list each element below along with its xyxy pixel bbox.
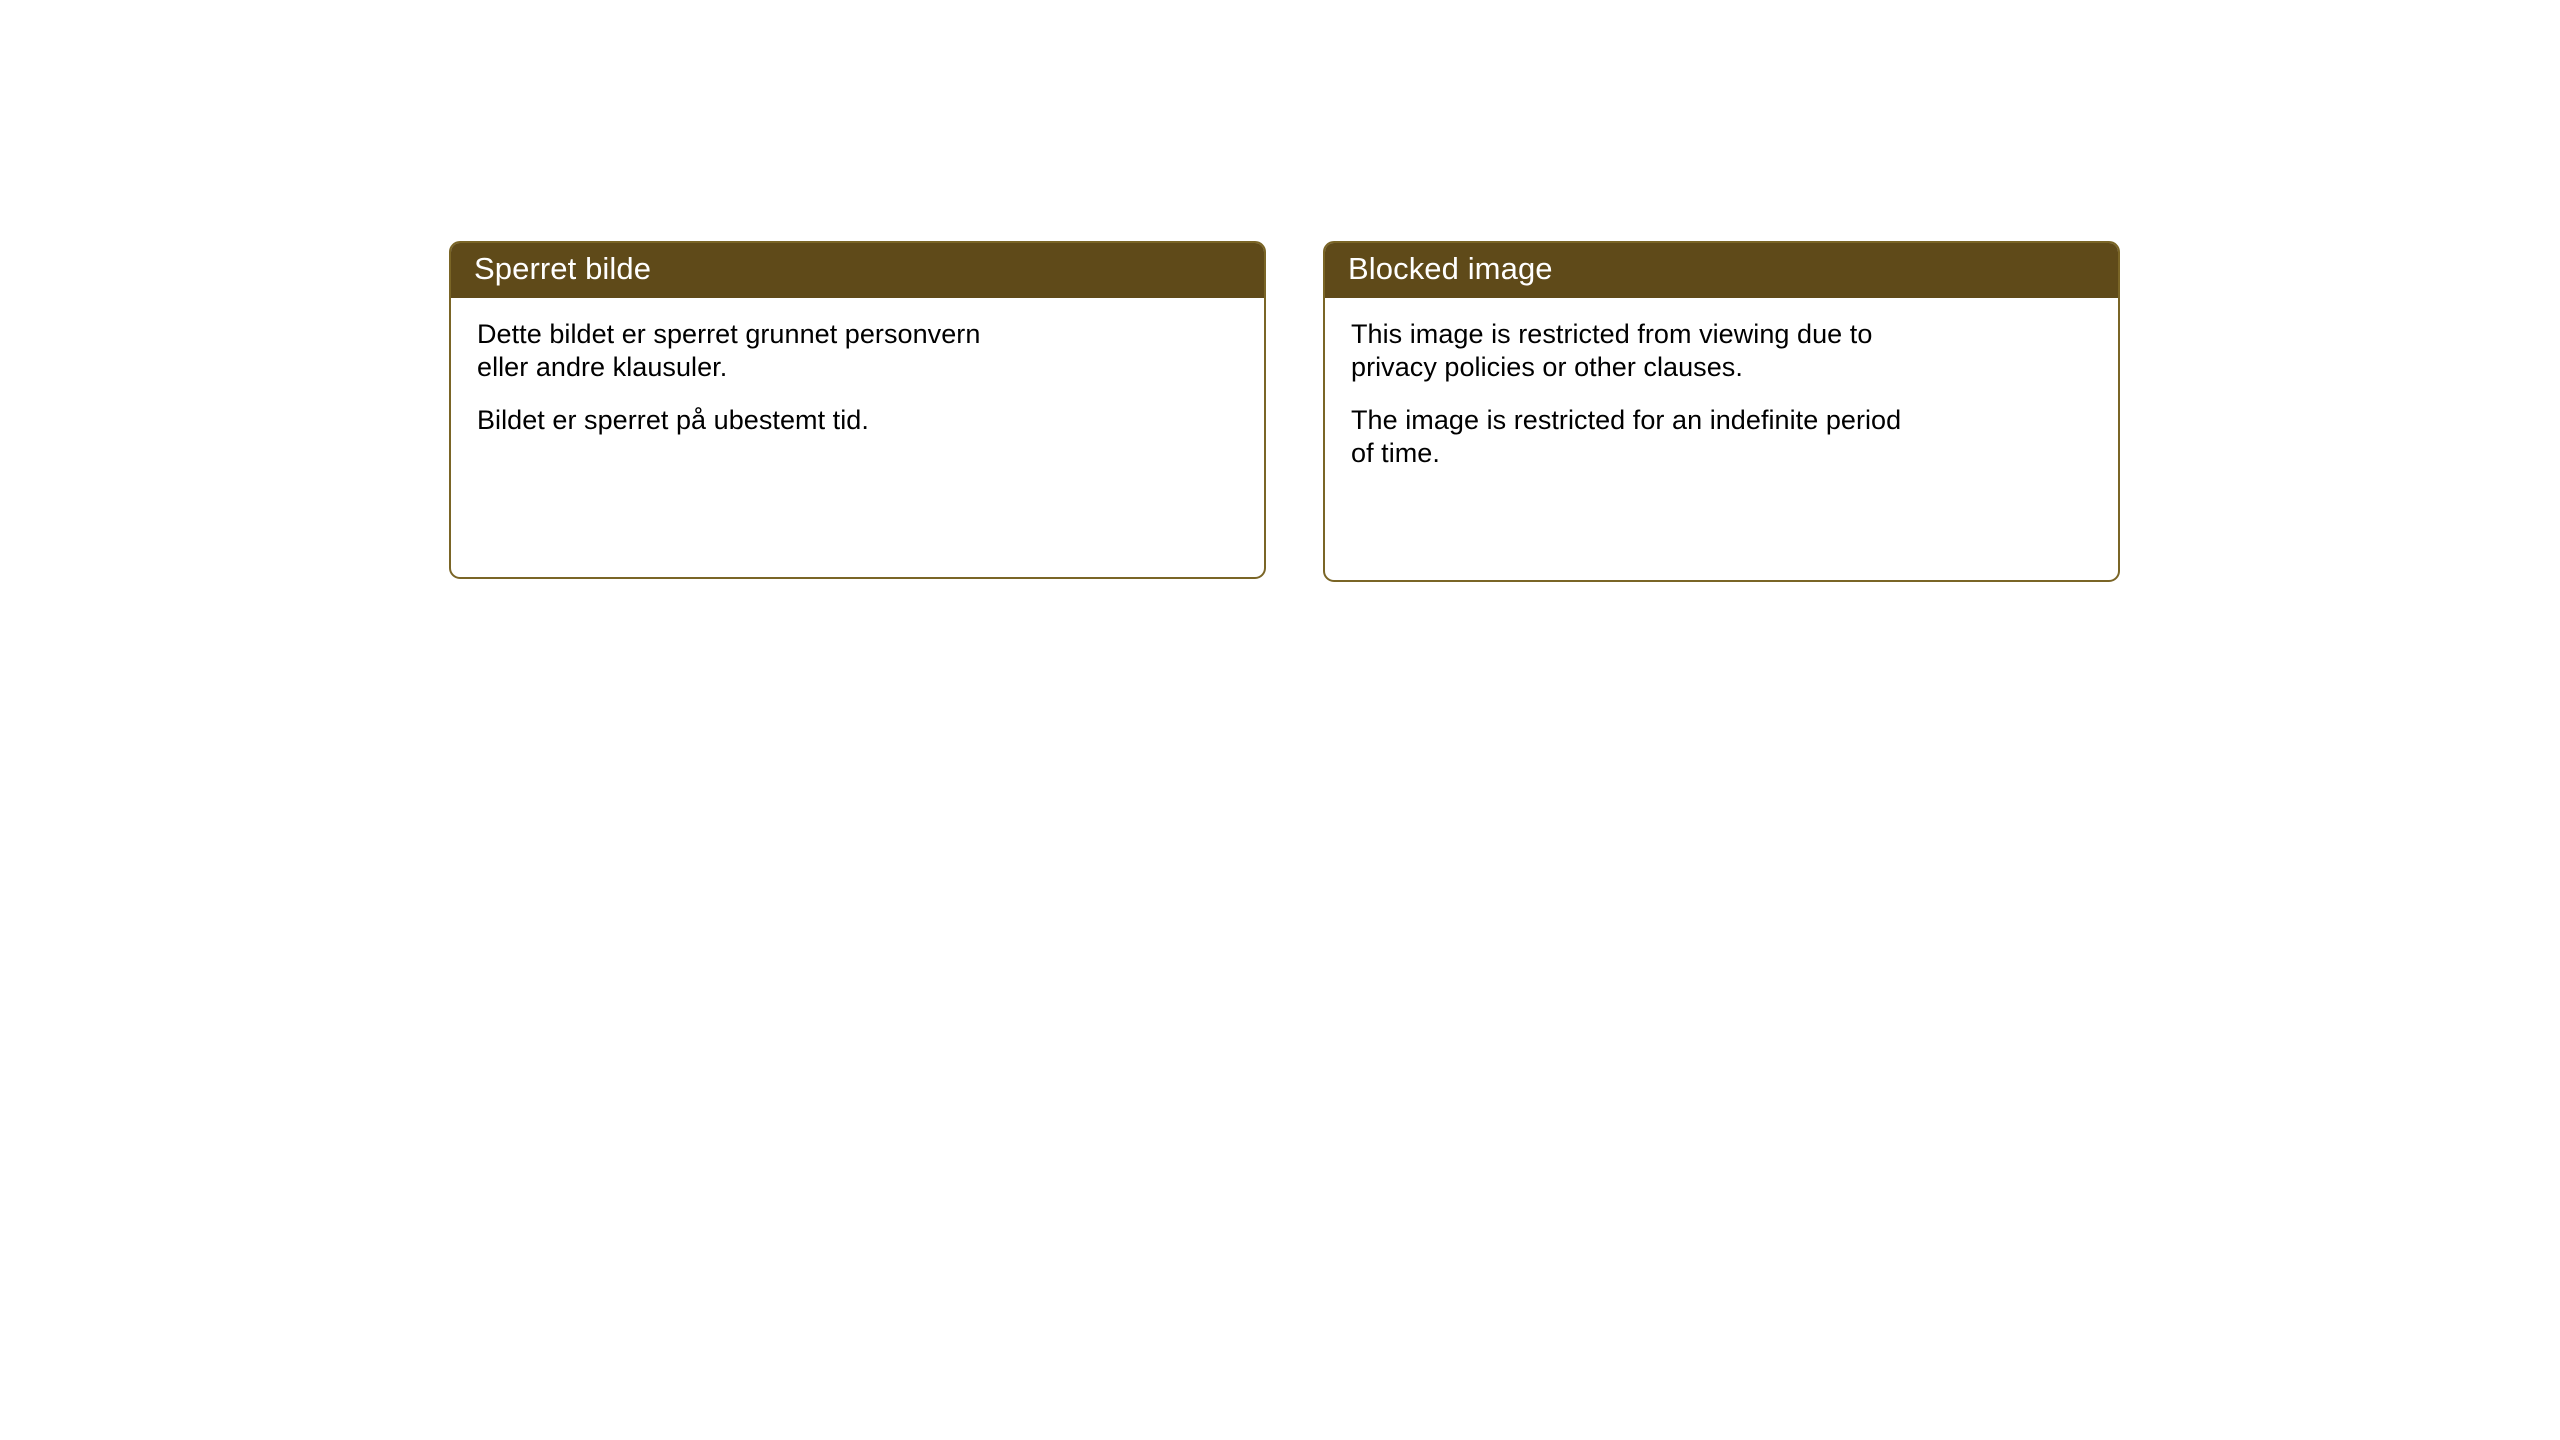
card-title-no: Sperret bilde xyxy=(474,253,651,287)
notice-paragraph: Dette bildet er sperret grunnet personve… xyxy=(477,321,1238,381)
notice-paragraph: Bildet er sperret på ubestemt tid. xyxy=(477,407,1238,434)
notice-line: The image is restricted for an indefinit… xyxy=(1351,407,2092,434)
card-header-no: Sperret bilde xyxy=(449,241,1266,298)
notice-line: Bildet er sperret på ubestemt tid. xyxy=(477,407,1238,434)
notice-line: eller andre klausuler. xyxy=(477,354,1238,381)
notice-line: This image is restricted from viewing du… xyxy=(1351,321,2092,348)
blocked-image-card-en: Blocked image This image is restricted f… xyxy=(1323,241,2120,582)
blocked-image-card-no: Sperret bilde Dette bildet er sperret gr… xyxy=(449,241,1266,579)
notice-line: of time. xyxy=(1351,440,2092,467)
notice-paragraph: This image is restricted from viewing du… xyxy=(1351,321,2092,381)
card-header-en: Blocked image xyxy=(1323,241,2120,298)
card-body-en: This image is restricted from viewing du… xyxy=(1325,298,2118,580)
card-body-no: Dette bildet er sperret grunnet personve… xyxy=(451,298,1264,577)
notice-line: Dette bildet er sperret grunnet personve… xyxy=(477,321,1238,348)
card-title-en: Blocked image xyxy=(1348,253,1553,287)
notice-paragraph: The image is restricted for an indefinit… xyxy=(1351,407,2092,467)
notice-line: privacy policies or other clauses. xyxy=(1351,354,2092,381)
blocked-image-notice-area: Sperret bilde Dette bildet er sperret gr… xyxy=(449,241,2120,582)
